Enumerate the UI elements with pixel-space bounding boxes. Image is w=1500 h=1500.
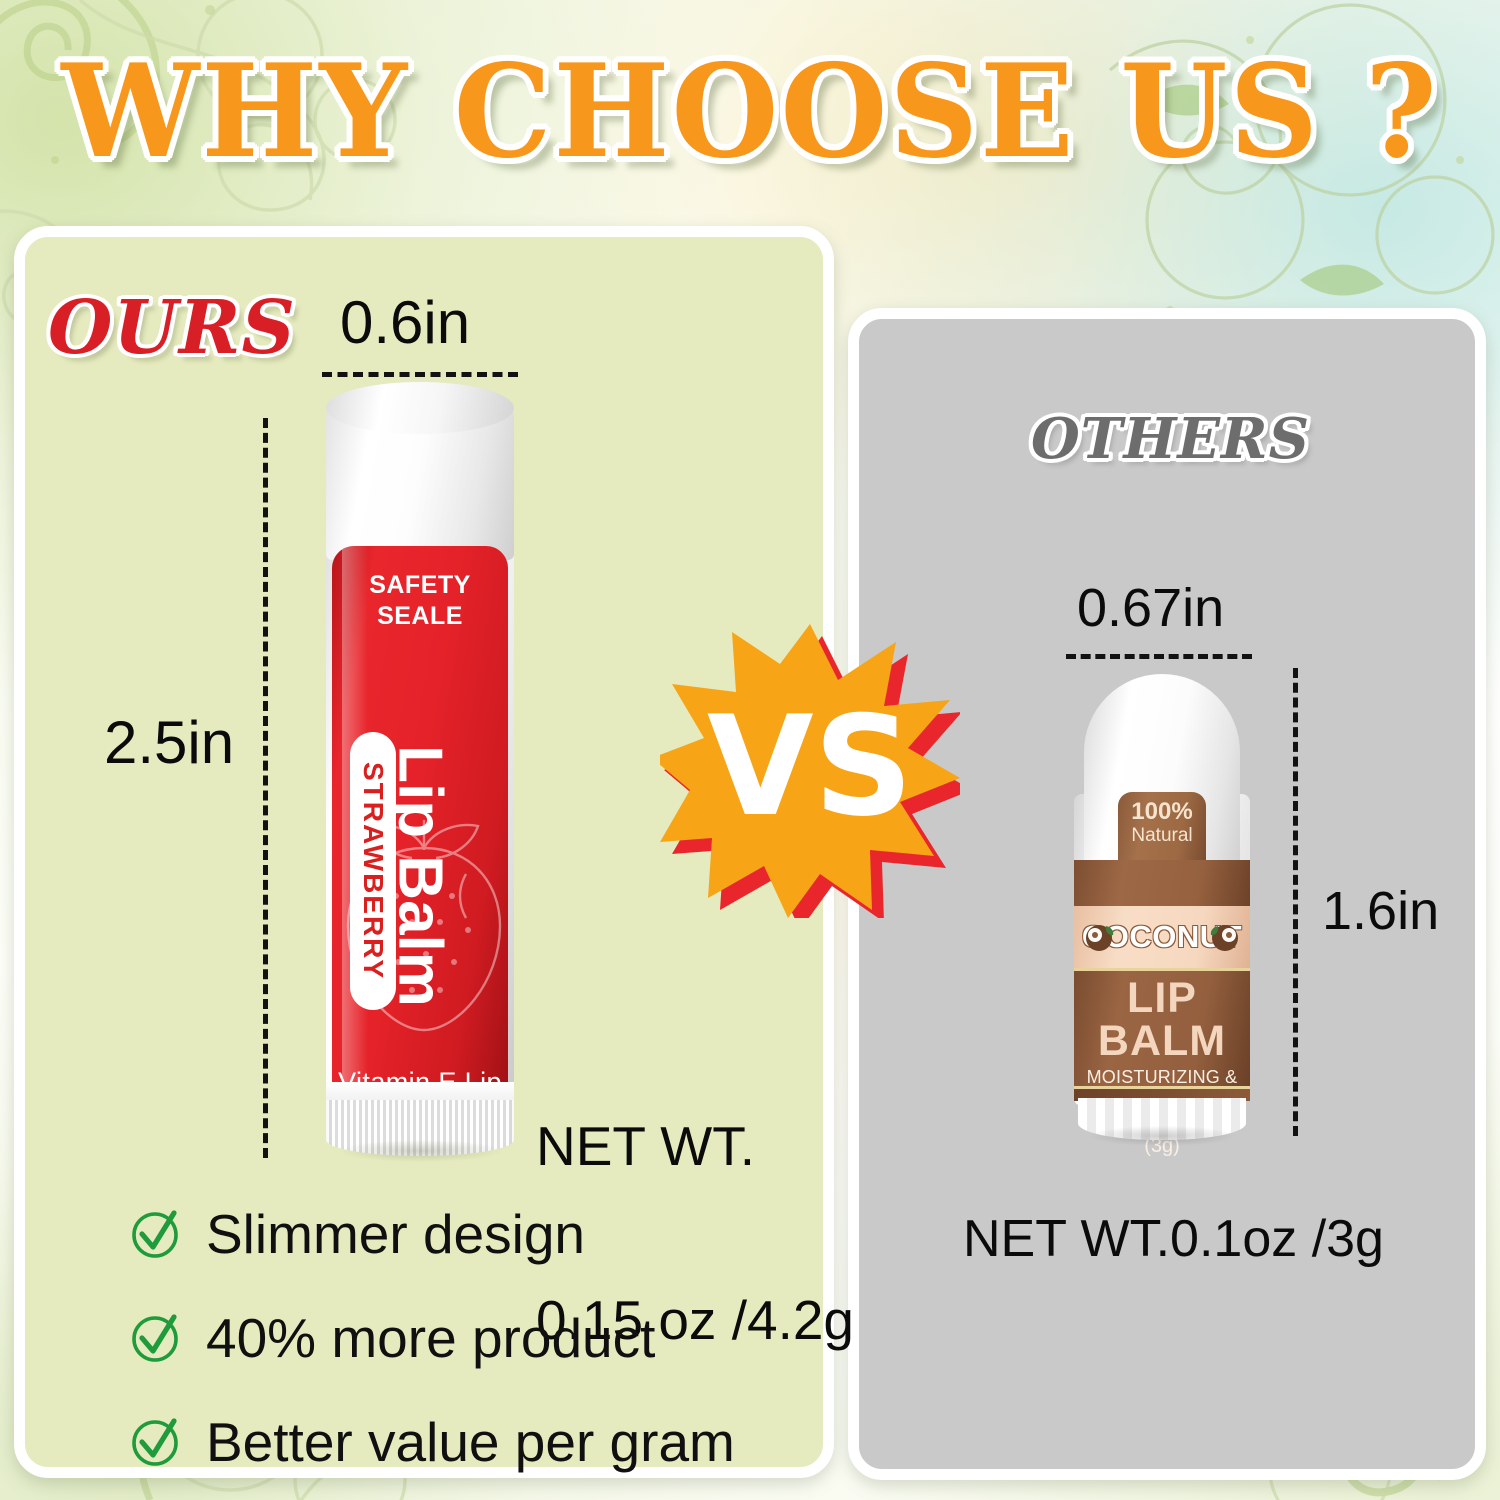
label-band-top xyxy=(1074,860,1250,909)
natural-badge-percent: 100% xyxy=(1118,800,1206,824)
ours-product-tube: SAFETY SEALE Lip Balm STRAWBERRY Vitamin… xyxy=(318,398,522,1162)
ours-height-label: 2.5in xyxy=(104,708,234,777)
ours-benefits-list: Slimmer design 40% more product Better v… xyxy=(128,1193,788,1500)
list-item: 40% more product xyxy=(128,1297,788,1379)
page-title: WHY CHOOSE US ? xyxy=(30,48,1470,176)
coconut-icon xyxy=(1208,920,1242,954)
benefit-label: 40% more product xyxy=(206,1306,655,1370)
benefit-label: Better value per gram xyxy=(206,1410,735,1474)
others-height-label: 1.6in xyxy=(1322,880,1439,942)
infographic-canvas: WHY CHOOSE US ? OURS OTHERS 0.6in 2.5in xyxy=(0,0,1500,1500)
others-heading: OTHERS xyxy=(1031,406,1310,472)
coconut-icon xyxy=(1082,920,1116,954)
check-circle-icon xyxy=(128,1311,182,1365)
tube-base-rim xyxy=(326,1082,514,1100)
coconut-drop-shadow xyxy=(1090,1126,1234,1146)
ours-height-dimension-line xyxy=(263,418,268,1158)
safety-seal-text: SAFETY SEALE xyxy=(332,570,508,631)
others-width-dimension-line xyxy=(1066,654,1252,659)
flavor-label-wrap: STRAWBERRY xyxy=(350,732,396,1010)
list-item: Better value per gram xyxy=(128,1401,788,1483)
natural-badge: 100% Natural xyxy=(1118,792,1206,864)
ours-net-weight-line1: NET WT. xyxy=(536,1117,854,1175)
tube-drop-shadow xyxy=(340,1140,502,1162)
tube-cap-top-ellipse xyxy=(326,382,514,434)
others-width-label: 0.67in xyxy=(1077,577,1224,639)
check-circle-icon xyxy=(128,1415,182,1469)
tube-label: SAFETY SEALE Lip Balm STRAWBERRY Vitamin… xyxy=(332,546,508,1108)
label-band-main: LIP BALM MOISTURIZING & SOOTHING NET WT.… xyxy=(1074,968,1250,1089)
vs-label: VS xyxy=(707,686,913,847)
coconut-product-name: LIP BALM xyxy=(1074,977,1250,1063)
ours-heading: OURS xyxy=(48,285,296,371)
vs-starburst-icon: VS xyxy=(660,618,960,918)
others-net-weight: NET WT.0.1oz /3g xyxy=(963,1209,1384,1269)
benefit-label: Slimmer design xyxy=(206,1202,585,1266)
flavor-band: COCONUT xyxy=(1074,906,1250,968)
check-circle-icon xyxy=(128,1207,182,1261)
list-item: Slimmer design xyxy=(128,1193,788,1275)
others-product-tube: 100% Natural COCONUT LIP BALM MOISTURIZI… xyxy=(1066,674,1258,1144)
ours-width-dimension-line xyxy=(322,372,518,377)
flavor-label: STRAWBERRY xyxy=(357,762,389,980)
natural-badge-text: Natural xyxy=(1118,826,1206,847)
others-height-dimension-line xyxy=(1293,668,1298,1136)
vs-badge: VS xyxy=(660,618,960,918)
ours-width-label: 0.6in xyxy=(340,288,470,357)
